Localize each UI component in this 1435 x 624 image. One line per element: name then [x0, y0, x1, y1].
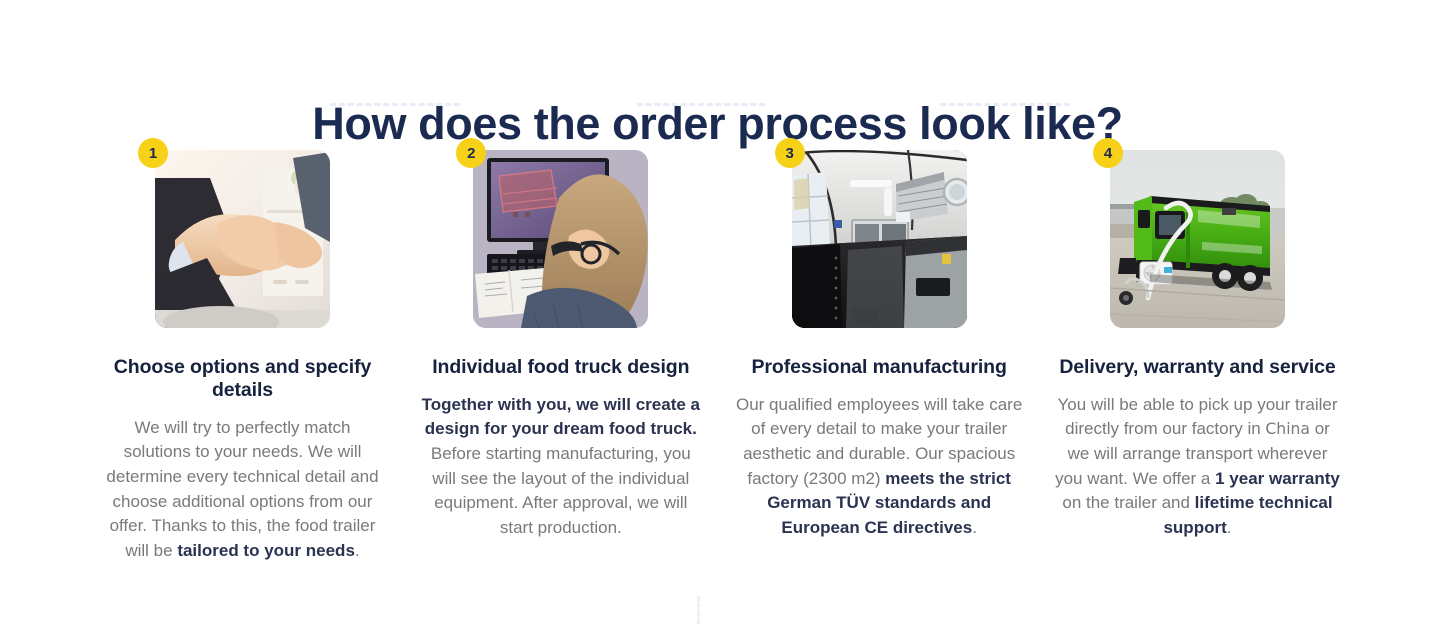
- step-number-badge-1: 1: [138, 138, 168, 168]
- step-number-badge-3: 3: [775, 138, 805, 168]
- step-connector-3-4: [940, 103, 1070, 108]
- step-body-4: You will be able to pick up your trailer…: [1052, 393, 1342, 541]
- step-photo-wrapper-1: 1: [155, 150, 330, 328]
- handshake-photo: [155, 150, 330, 328]
- step-photo-wrapper-4: 4: [1110, 150, 1285, 328]
- step-card-2: 2: [408, 150, 713, 541]
- step-connector-vertical: [697, 596, 702, 624]
- step-connector-2-3: [637, 103, 765, 108]
- step-title-1: Choose options and specify details: [108, 356, 378, 402]
- step-card-1: 1: [90, 150, 395, 563]
- green-trailer-photo: [1110, 150, 1285, 328]
- step-connector-1-2: [330, 103, 460, 108]
- step-photo-wrapper-3: 3: [792, 150, 967, 328]
- step-body-1: We will try to perfectly match solutions…: [100, 416, 385, 564]
- step-body-3: Our qualified employees will take care o…: [734, 393, 1024, 541]
- step-body-2: Together with you, we will create a desi…: [418, 393, 703, 541]
- step-card-3: 3: [727, 150, 1032, 541]
- cad-designer-photo: [473, 150, 648, 328]
- step-card-4: 4: [1045, 150, 1350, 541]
- step-title-2: Individual food truck design: [416, 356, 706, 379]
- trailer-interior-photo: [792, 150, 967, 328]
- order-process-steps: 1: [90, 150, 1350, 563]
- step-title-3: Professional manufacturing: [734, 356, 1024, 379]
- step-number-badge-4: 4: [1093, 138, 1123, 168]
- step-photo-wrapper-2: 2: [473, 150, 648, 328]
- step-title-4: Delivery, warranty and service: [1052, 356, 1342, 379]
